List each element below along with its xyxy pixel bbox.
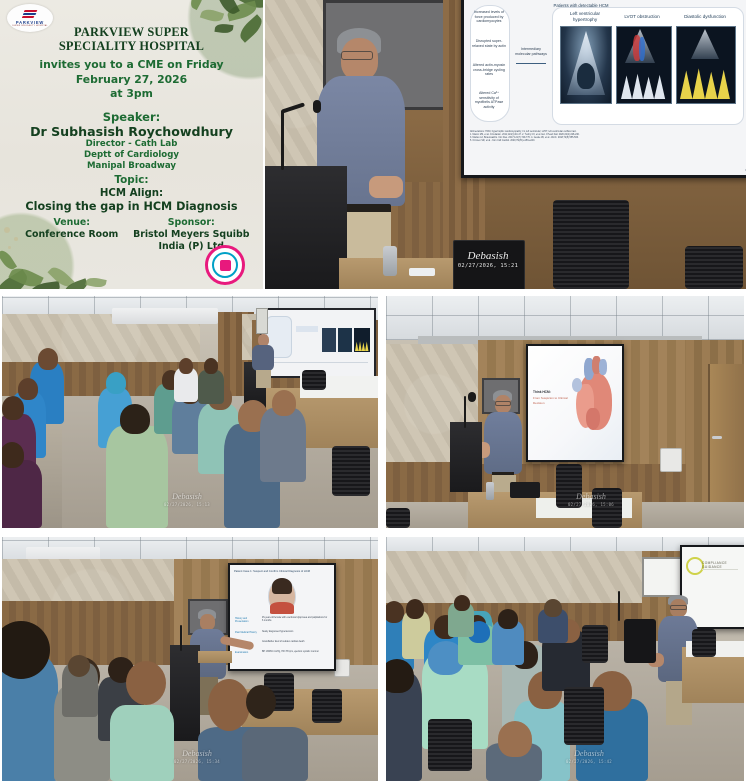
slide1-middle-label: Intermediary molecular pathways xyxy=(514,47,548,56)
photo1-water-bottle xyxy=(383,246,397,276)
audience-member xyxy=(2,460,42,528)
photo5-chair xyxy=(582,625,608,663)
audience-member-head xyxy=(2,442,24,468)
poster-venue-value: Conference Room xyxy=(12,229,132,241)
photo3-projection-screen: Think HCM: From Suspicion to Clinical De… xyxy=(526,344,624,462)
parkview-logo: PARKVIEW SUPER SPECIALITY HOSPITAL xyxy=(7,4,53,32)
slide5-title: COMPLIANCE GUIDANCE xyxy=(702,561,744,569)
audience-member-head xyxy=(454,595,470,611)
photo1-second-microphone xyxy=(313,100,321,113)
photo5-av-cabinet xyxy=(624,619,656,663)
photo1-projection-screen: Patients with detectable HCM Increased l… xyxy=(461,0,746,178)
photo5-chair xyxy=(428,719,472,771)
photo3-water-bottle xyxy=(486,482,494,500)
poster-venue-label: Venue: xyxy=(12,217,132,229)
audience-member-head xyxy=(106,372,126,394)
poster-sponsor-label: Sponsor: xyxy=(132,217,252,229)
audience-member-head xyxy=(386,659,414,693)
audience-member-head xyxy=(498,721,532,757)
poster-speaker-role: Director - Cath Lab xyxy=(8,139,255,150)
audience-member-head xyxy=(498,609,518,629)
slide1-left-item-2: Altered actin-myosin cross-bridge cyclin… xyxy=(472,63,506,77)
slide4-title: Patient Case 1: Suspect and Confirm Clin… xyxy=(234,570,330,573)
poster-topic-label: Topic: xyxy=(8,174,255,187)
photo2-chair xyxy=(332,446,370,496)
slide1-echo-image-lvh xyxy=(560,26,612,104)
slide4-row-label-0: History and Presentation xyxy=(235,617,259,623)
audience-member-head xyxy=(2,396,24,420)
photo5-hex-wall xyxy=(386,551,652,607)
audience-member-head xyxy=(208,679,250,731)
audience-member xyxy=(260,408,306,482)
slide1-echo-image-diastolic xyxy=(676,26,736,104)
poster-heading-line2: SPECIALITY HOSPITAL xyxy=(8,40,255,54)
photo1-paper-stack xyxy=(409,268,435,276)
poster-speaker-label: Speaker: xyxy=(8,110,255,124)
photo3-ceiling-grid xyxy=(386,296,744,340)
poster-venue-block: Venue: Conference Room xyxy=(12,217,132,253)
photo4-light-switch-panel xyxy=(334,659,350,677)
photo3-chair xyxy=(556,464,582,508)
photo1-chair xyxy=(685,246,743,289)
photo-audience-right: COMPLIANCE GUIDANCE xyxy=(386,537,744,781)
audience-member-head xyxy=(38,348,58,370)
slide1-arrow-icon xyxy=(516,63,546,64)
photo3-door-handle xyxy=(712,436,722,439)
audience-member-head xyxy=(406,599,424,619)
photo-audience-left: Debasish 02/27/2026, 15:13 xyxy=(2,296,378,528)
poster-invite-line1: invites you to a CME on Friday xyxy=(8,58,255,73)
poster-topic-line1: HCM Align: xyxy=(8,187,255,200)
slide1-left-item-1: Disrupted super-relaxed state by actin xyxy=(472,39,506,48)
photo2-ac-unit xyxy=(112,308,218,324)
photo5-chair xyxy=(692,629,716,657)
photo1-chair xyxy=(553,200,629,289)
photo5-microphone-stand xyxy=(618,591,620,621)
photo1-microphone-stand xyxy=(281,110,284,170)
slide4-row-value-3: BP 138/84 mmHg, HR 78 bpm, ejection syst… xyxy=(262,651,328,654)
photo3-microphone-stand xyxy=(464,396,466,428)
photo1-laptop xyxy=(453,240,525,289)
photo2-speaker-figure xyxy=(248,334,278,386)
photo1-front-table xyxy=(339,258,469,289)
slide3-title: Think HCM: xyxy=(533,390,551,394)
slide3-heart-illustration xyxy=(570,356,618,446)
slide4-row-label-3: Examination xyxy=(235,651,259,654)
slide4-row-value-0: 45-year-old female with exertional dyspn… xyxy=(262,617,328,623)
poster-speaker-org: Manipal Broadway xyxy=(8,161,255,172)
slide4-patient-avatar xyxy=(268,579,296,613)
audience-member xyxy=(106,426,168,528)
poster-speaker-dept: Deptt of Cardiology xyxy=(8,150,255,161)
photo3-laptop-bag xyxy=(510,482,540,498)
parkview-logo-tagline: SUPER SPECIALITY HOSPITAL xyxy=(12,25,47,27)
photo4-podium xyxy=(170,645,200,741)
slide3-subtitle-line1: From Suspicion to Clinical xyxy=(533,396,568,400)
photo1-speaker-hands xyxy=(369,176,403,198)
audience-member-head xyxy=(126,661,166,705)
photo2-chair xyxy=(302,370,326,390)
slide4-row-value-2: Grandfather died of sudden cardiac death xyxy=(262,641,328,644)
photo5-speaker-glasses-icon xyxy=(670,605,687,610)
poster-speaker-name: Dr Subhasish Roychowdhury xyxy=(8,124,255,139)
photo3-light-switch-panel xyxy=(660,448,682,472)
photo4-chair xyxy=(312,689,342,723)
photo2-whiteboard xyxy=(256,308,268,334)
photo-case-slide: Patient Case 1: Suspect and Confirm Clin… xyxy=(2,537,378,781)
slide1-left-item-0: Increased levels of force produced by ca… xyxy=(472,10,506,24)
photo3-microphone-head xyxy=(468,392,476,402)
slide4-row-label-1: Past Medical History xyxy=(235,631,259,634)
nabh-badge-core xyxy=(220,260,231,271)
photo4-podium-top xyxy=(198,651,232,663)
photo3-chair xyxy=(592,488,622,528)
photo3-podium xyxy=(450,422,482,492)
audience-member xyxy=(242,727,308,781)
audience-member-head xyxy=(246,685,276,719)
slide1-echo-image-lvot xyxy=(616,26,672,104)
audience-member-head xyxy=(18,378,38,400)
slide1-panel-label-0: Left ventricular hypertrophy xyxy=(558,11,612,22)
nabh-badge-inner xyxy=(212,252,238,278)
poster-topic-line2: Closing the gap in HCM Diagnosis xyxy=(8,200,255,214)
slide1-left-item-3: Altered Ca²⁺ sensitivity of myofibrils A… xyxy=(472,91,506,109)
photo3-chair xyxy=(386,508,410,528)
audience-member-head xyxy=(204,358,218,374)
photo-speaker-heart-slide: Think HCM: From Suspicion to Clinical De… xyxy=(386,296,744,528)
nabh-accreditation-badge xyxy=(205,245,245,285)
photo-speaker-podium: Patients with detectable HCM Increased l… xyxy=(265,0,746,289)
photo5-chair xyxy=(564,687,604,745)
audience-member-head xyxy=(179,358,193,374)
audience-member-head xyxy=(544,599,562,617)
photo1-speaker-glasses-icon xyxy=(341,51,373,60)
audience-member xyxy=(198,370,224,404)
slide1-panel-label-1: LVOT obstruction xyxy=(616,14,668,20)
slide1-panel-label-2: Diastolic dysfunction xyxy=(676,14,734,20)
audience-member-head xyxy=(120,404,150,434)
slide1-references: Abbreviations: HCM, hypertrophic cardiom… xyxy=(470,131,730,143)
poster-invite-date: February 27, 2026 xyxy=(8,73,255,88)
audience-member-head xyxy=(68,655,90,677)
audience-member xyxy=(110,705,174,781)
photo4-projection-screen: Patient Case 1: Suspect and Confirm Clin… xyxy=(228,563,336,671)
photo4-microphone-stand xyxy=(180,625,182,651)
cme-event-poster: PARKVIEW SUPER SPECIALITY HOSPITAL PARKV… xyxy=(0,0,263,289)
poster-invite-time: at 3pm xyxy=(8,87,255,102)
photo1-podium xyxy=(265,166,347,289)
photo5-whiteboard xyxy=(642,557,684,597)
audience-member-head xyxy=(272,390,296,416)
poster-content: PARKVIEW SUPER SPECIALITY HOSPITAL invit… xyxy=(0,26,263,253)
audience-member-head xyxy=(386,601,404,623)
slide4-row-value-1: Newly diagnosed hypertension xyxy=(262,631,328,634)
slide3-subtitle-line2: Decision xyxy=(533,401,545,405)
parkview-flag-icon xyxy=(22,10,39,19)
photo-collage: PARKVIEW SUPER SPECIALITY HOSPITAL PARKV… xyxy=(0,0,746,783)
photo3-speaker-glasses-icon xyxy=(495,401,511,406)
poster-sponsor-line1: Bristol Meyers Squibb xyxy=(132,229,252,241)
